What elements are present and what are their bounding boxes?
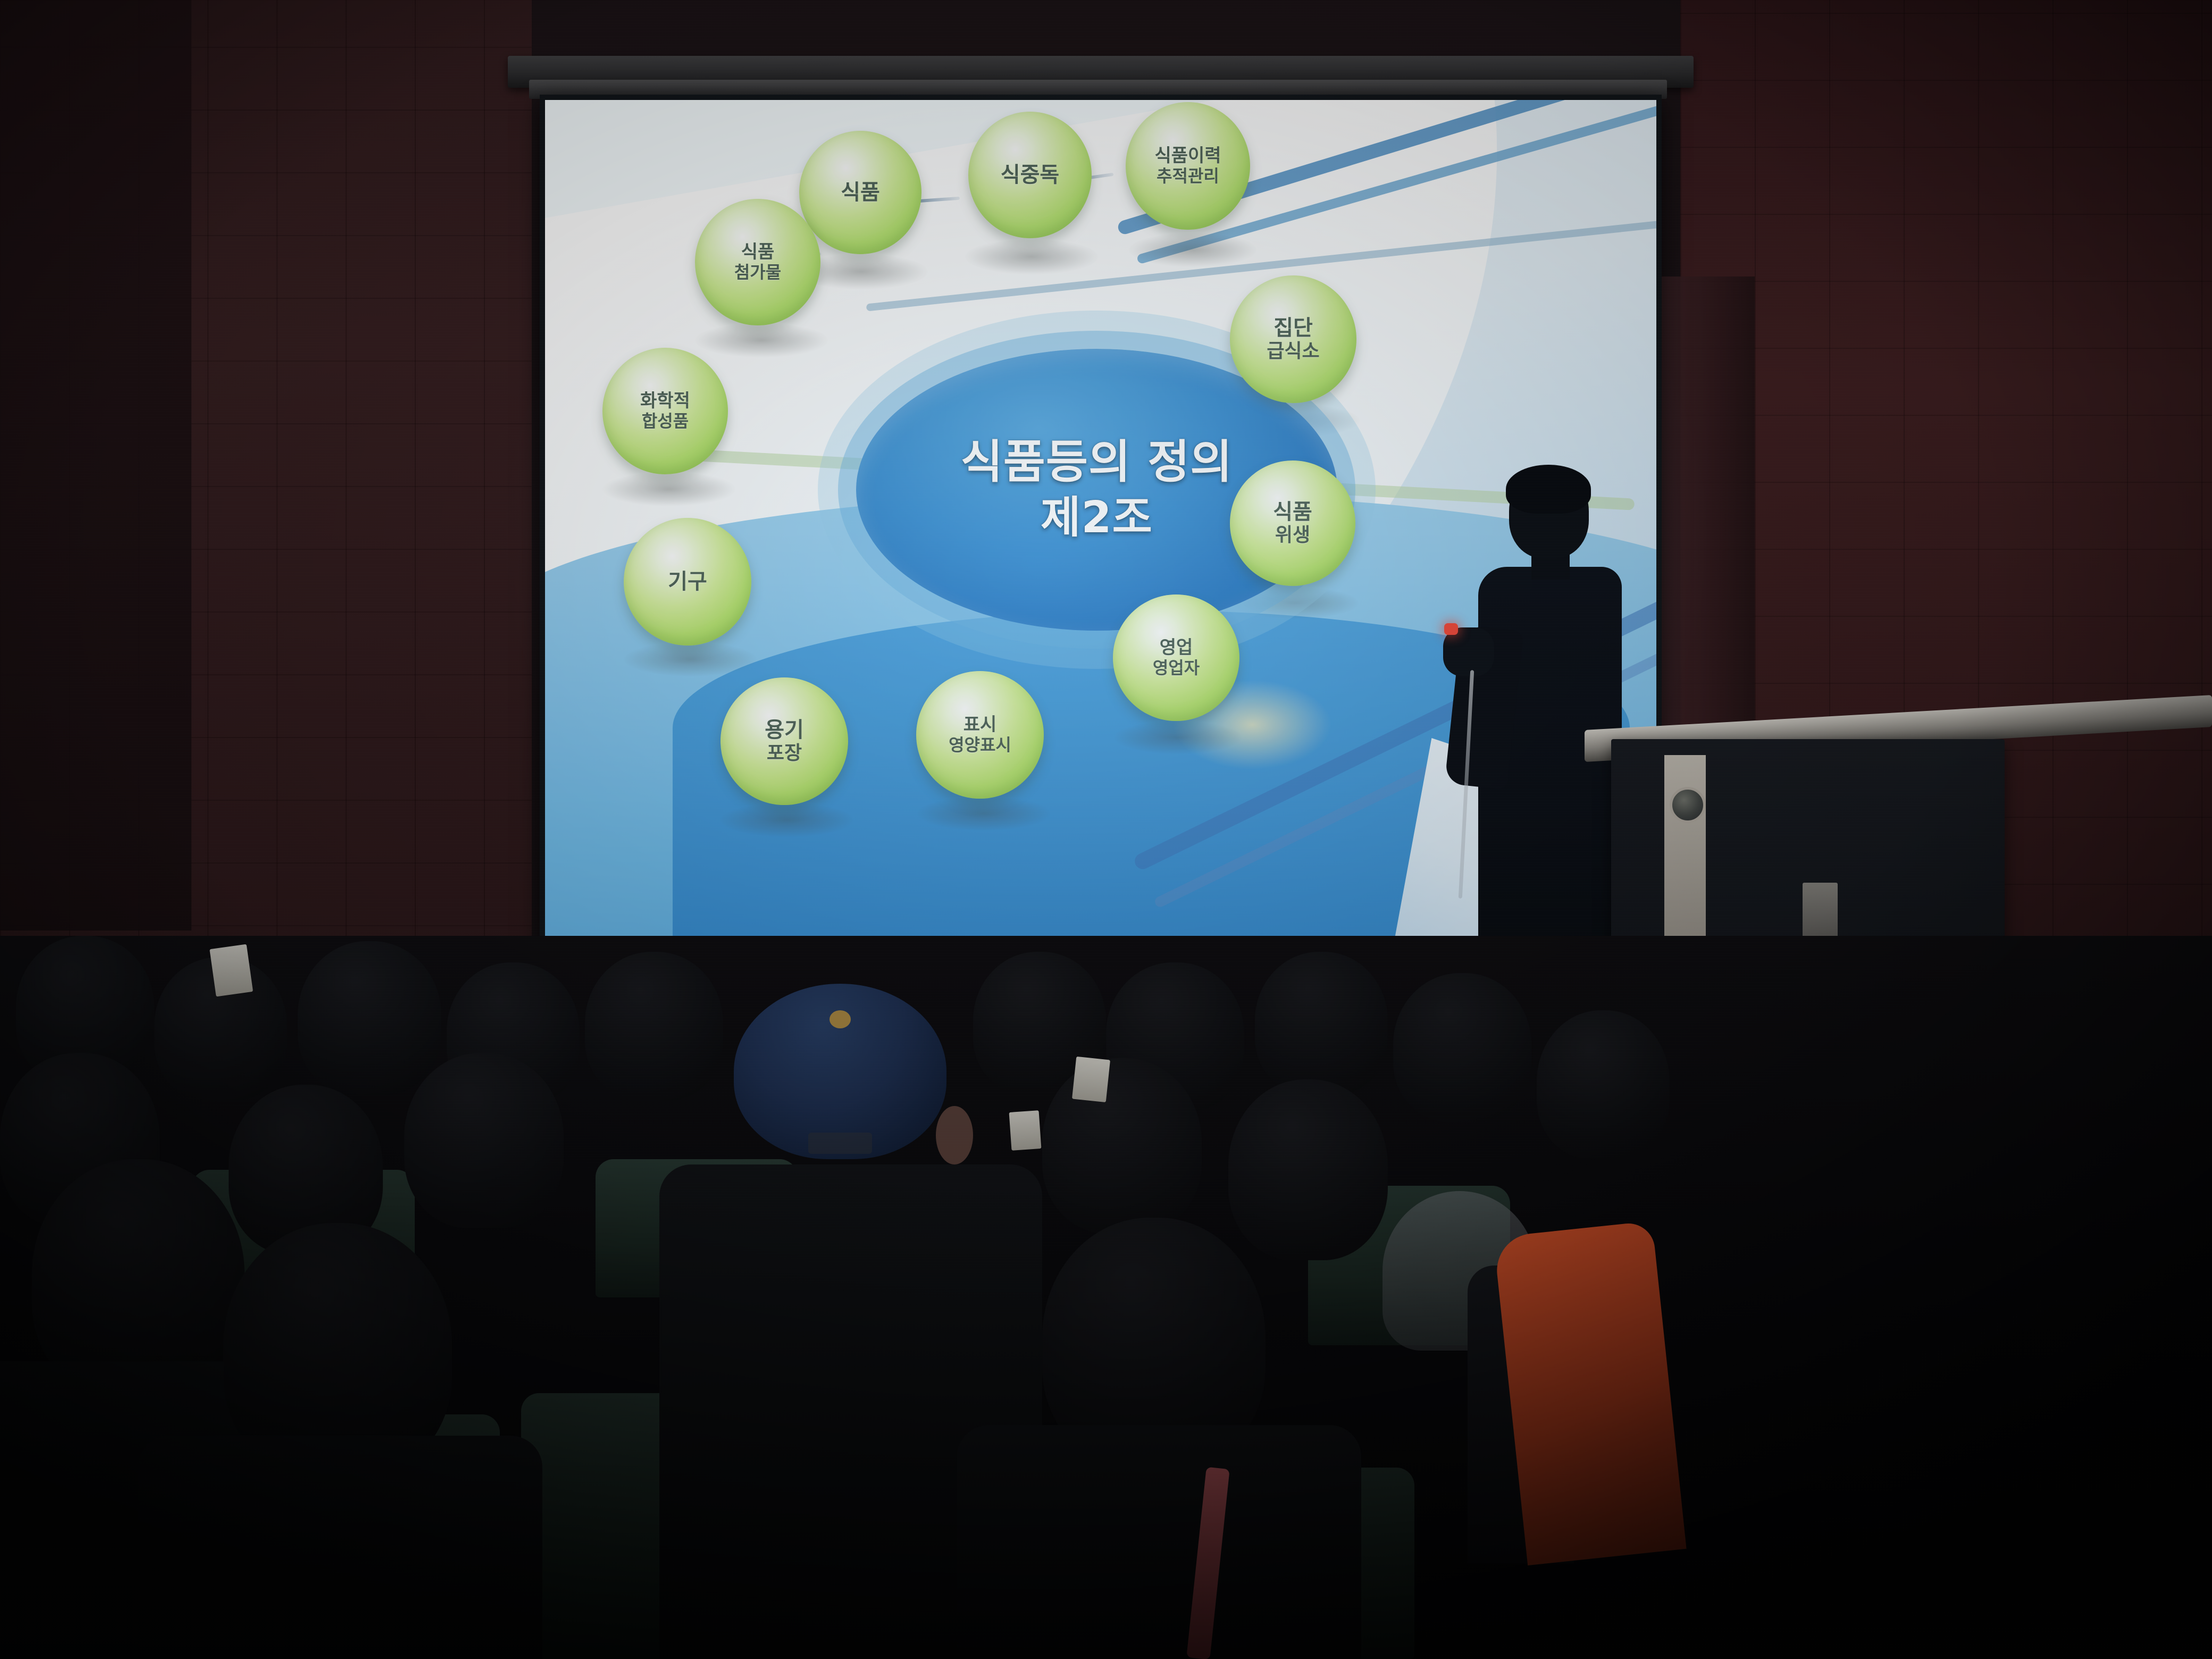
bubble-label-line2: 포장: [767, 742, 802, 765]
audience-head: [298, 941, 441, 1095]
bubble-shadow: [1114, 721, 1242, 754]
bubble-label-line2: 위생: [1275, 524, 1310, 547]
cap-strap: [808, 1133, 872, 1154]
bubble-label-line1: 화학적: [640, 391, 690, 412]
bubble-label-line2: 합성품: [642, 412, 689, 431]
bubble-label-line1: 영업: [1160, 638, 1193, 658]
slide-bubble-labeling: 표시 영양표시: [916, 671, 1044, 799]
bubble-label-line1: 표시: [963, 715, 997, 735]
slide-bubble-sikpum: 식품: [799, 131, 921, 254]
presenter-hair: [1506, 465, 1591, 514]
bubble-label-line1: 기구: [668, 569, 707, 594]
slide-bubble-synthetic: 화학적 합성품: [602, 348, 728, 474]
bubble-shadow: [720, 803, 853, 837]
bubble-shadow: [965, 239, 1098, 274]
audience-orange-jacket: [1493, 1221, 1686, 1565]
bubble-shadow: [695, 323, 828, 357]
bubble-label-line1: 식중독: [1001, 163, 1059, 187]
podium-knob-icon: [1670, 787, 1706, 823]
audience-head: [1393, 973, 1531, 1122]
bubble-label-line2: 급식소: [1267, 340, 1319, 363]
slide-bubble-additives: 식품 첨가물: [695, 199, 820, 325]
bubble-shadow: [624, 642, 757, 676]
audience-head: [1228, 1079, 1388, 1260]
slide-bubble-business: 영업 영업자: [1113, 594, 1239, 721]
slide-bubble-food-hygiene: 식품 위생: [1230, 460, 1355, 586]
audience-head: [1537, 1010, 1670, 1159]
seat-paper-tag: [210, 944, 253, 997]
audience-shoulders: [957, 1425, 1361, 1659]
bubble-label-line2: 영업자: [1153, 658, 1200, 678]
slide-bubble-utensils: 기구: [624, 518, 751, 646]
lecture-hall-photo: 식품등의 정의 제2조 식품 식중독 식품이력 추적관리 집단 급식소: [0, 0, 2212, 1659]
left-wall-panel: [0, 0, 191, 931]
slide-bubble-packaging: 용기 포장: [720, 677, 848, 805]
audience-shoulders: [138, 1436, 542, 1659]
bubble-label-line1: 식품: [1273, 500, 1312, 524]
audience-head: [585, 952, 723, 1101]
bubble-label-line1: 식품이력: [1154, 146, 1221, 166]
seat-paper-tag: [1009, 1110, 1042, 1151]
bubble-label-line1: 집단: [1273, 316, 1313, 340]
podium-name-plate: [1803, 883, 1838, 939]
slide-bubble-group-catering: 집단 급식소: [1230, 275, 1356, 403]
cap-button-icon: [829, 1010, 851, 1028]
audience-ear: [936, 1106, 973, 1164]
bubble-shadow: [1129, 233, 1256, 267]
bubble-shadow: [917, 797, 1050, 831]
slide-center-title-line2: 제2조: [1041, 492, 1153, 544]
bubble-label-line1: 용기: [765, 718, 804, 742]
bubble-label-line2: 첨가물: [734, 263, 781, 282]
audience-head: [404, 1053, 564, 1228]
bubble-label-line1: 식품: [741, 242, 775, 263]
bubble-label-line2: 추적관리: [1157, 166, 1219, 186]
bubble-label-line1: 식품: [841, 180, 880, 205]
seat-paper-tag: [1072, 1057, 1110, 1102]
bubble-shadow: [602, 472, 735, 506]
audience-head: [1255, 952, 1388, 1095]
slide-bubble-sikjungdok: 식중독: [968, 112, 1092, 238]
audience-head: [1042, 1058, 1202, 1234]
bubble-label-line2: 영양표시: [949, 735, 1011, 755]
slide-bubble-traceability: 식품이력 추적관리: [1126, 102, 1250, 230]
slide-center-title-line1: 식품등의 정의: [961, 435, 1233, 489]
laser-pointer-led-icon: [1444, 623, 1458, 635]
